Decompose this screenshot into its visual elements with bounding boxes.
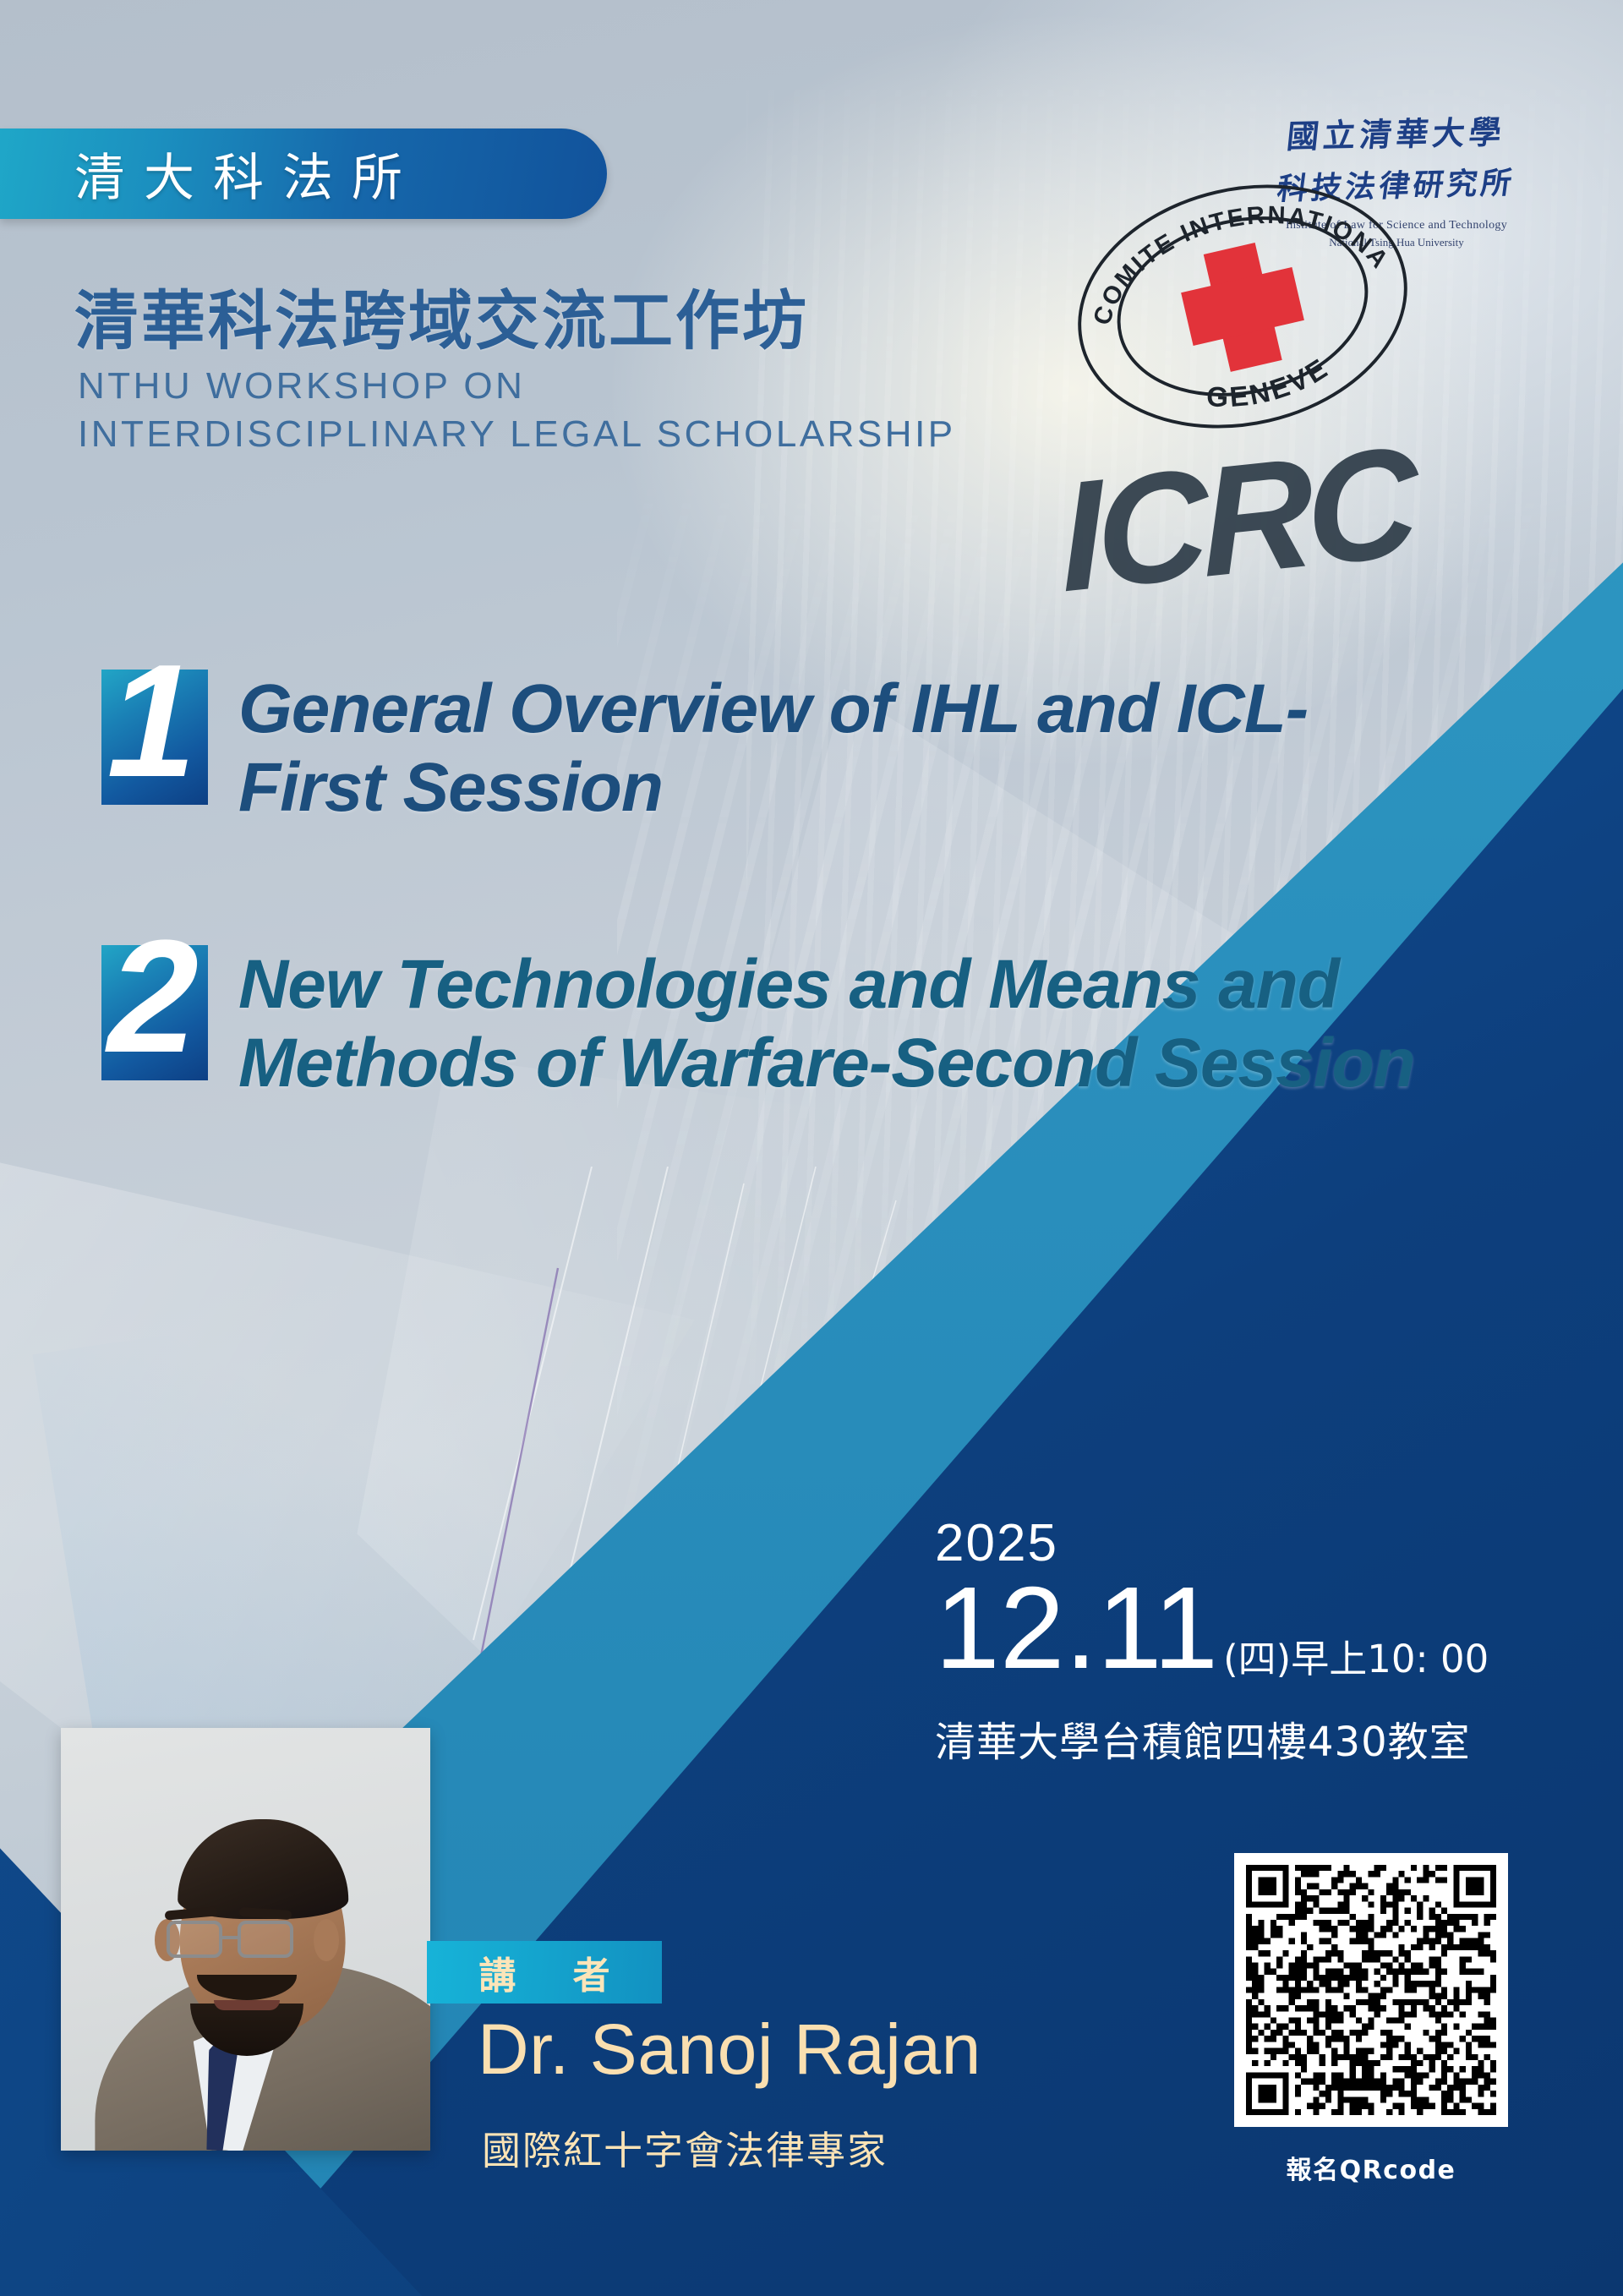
session-item-1: 1 General Overview of IHL and ICL- First… <box>101 670 1439 828</box>
event-date-row: 12.11 (四)早上10: 00 <box>935 1570 1489 1686</box>
speaker-photo <box>61 1728 430 2151</box>
qr-caption: 報名QRcode <box>1234 2149 1508 2186</box>
speaker-label-band: 講 者 <box>427 1941 662 2004</box>
poster-root: 清大科法所 清華科法跨域交流工作坊 NTHU WORKSHOP ON INTER… <box>0 0 1623 2296</box>
red-cross-icon <box>1174 236 1312 379</box>
speaker-role: 國際紅十字會法律專家 <box>482 2120 888 2176</box>
speaker-label: 講 者 <box>456 1945 631 1999</box>
event-details: 2025 12.11 (四)早上10: 00 清華大學台積館四樓430教室 <box>935 1513 1489 1768</box>
institute-badge: 清大科法所 <box>0 128 607 219</box>
workshop-title-en-line2: INTERDISCIPLINARY LEGAL SCHOLARSHIP <box>78 410 956 458</box>
workshop-title-zh: 清華科法跨域交流工作坊 <box>74 269 809 362</box>
photo-ear-right <box>314 1919 339 1961</box>
workshop-title-en-line1: NTHU WORKSHOP ON <box>78 362 956 410</box>
event-time: (四)早上10: 00 <box>1223 1640 1489 1686</box>
event-venue: 清華大學台積館四樓430教室 <box>935 1708 1489 1768</box>
session-number-badge-1: 1 <box>101 670 208 805</box>
photo-glasses-right <box>238 1921 293 1958</box>
session-title-2: New Technologies and Means and Methods o… <box>238 945 1439 1103</box>
speaker-name: Dr. Sanoj Rajan <box>478 2009 981 2091</box>
qr-code[interactable] <box>1234 1853 1508 2127</box>
photo-glasses-left <box>167 1921 222 1958</box>
icrc-logo: COMITE INTERNATIONAL GENEVE ICRC <box>1061 182 1441 655</box>
qr-block[interactable]: 報名QRcode <box>1234 1853 1508 2186</box>
nthu-logo-zh-line1: 國立清華大學 <box>1254 106 1538 158</box>
session-number-badge-2: 2 <box>101 945 208 1080</box>
session-item-2: 2 New Technologies and Means and Methods… <box>101 945 1439 1103</box>
photo-mouth <box>214 2000 280 2010</box>
photo-glasses-bridge <box>222 1936 239 1939</box>
photo-hair <box>178 1819 348 1919</box>
qr-code-canvas[interactable] <box>1246 1865 1496 2115</box>
workshop-title-en: NTHU WORKSHOP ON INTERDISCIPLINARY LEGAL… <box>78 362 956 458</box>
institute-badge-label: 清大科法所 <box>0 137 421 210</box>
event-date: 12.11 <box>935 1570 1218 1686</box>
session-title-1: General Overview of IHL and ICL- First S… <box>238 670 1439 828</box>
